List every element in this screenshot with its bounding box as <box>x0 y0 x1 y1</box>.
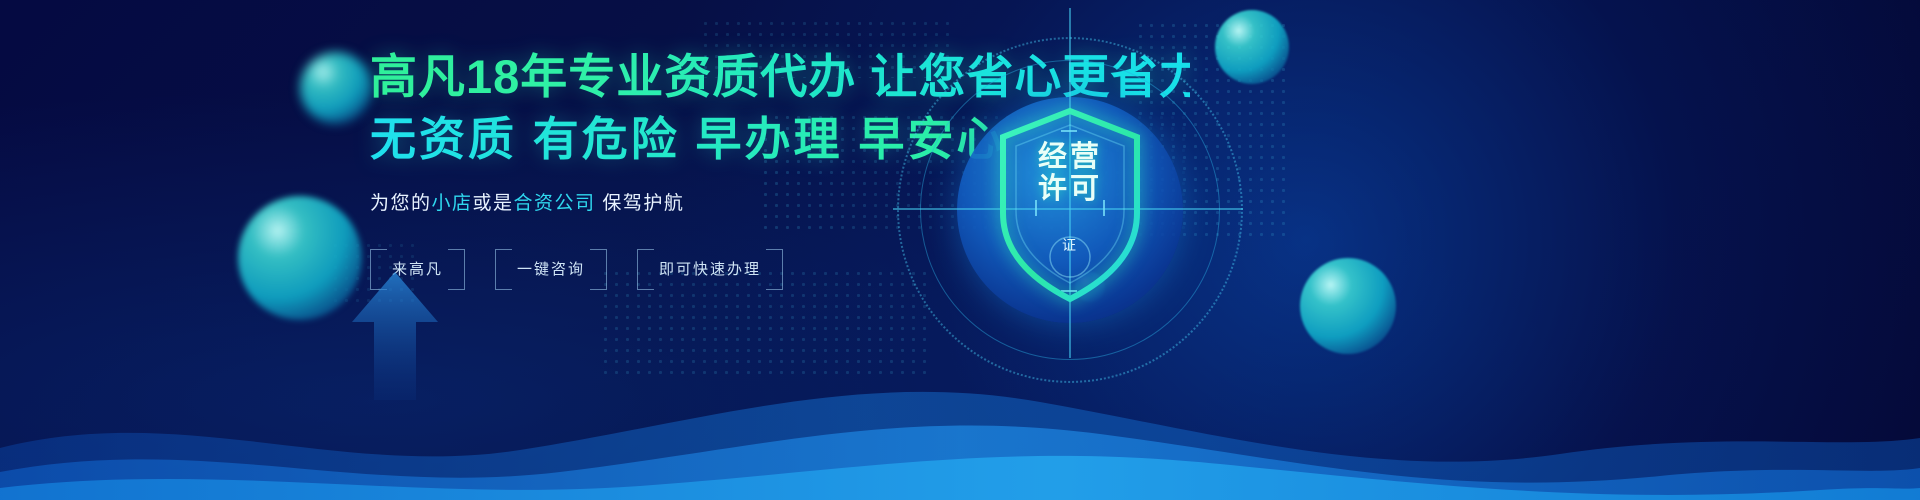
shield-label-sub: 证 <box>995 235 1145 255</box>
sphere-decoration <box>300 52 372 124</box>
promo-banner: 高凡18年专业资质代办 让您省心更省力 无资质 有危险 早办理 早安心 为您的小… <box>0 0 1920 500</box>
subheadline-highlight-company: 合资公司 <box>514 193 596 214</box>
shield-label: 经营 许可 <box>995 141 1145 206</box>
license-emblem: 经营 许可 证 <box>885 0 1255 380</box>
subheadline-middle: 或是 <box>473 193 514 214</box>
shield-label-line1: 经营 <box>995 141 1145 173</box>
tag-button-fast-processing[interactable]: 即可快速办理 <box>637 249 783 288</box>
shield-icon: 经营 许可 证 <box>995 105 1145 305</box>
subheadline-highlight-store: 小店 <box>432 193 473 214</box>
wave-decoration <box>0 330 1920 500</box>
shield-label-line2: 许可 <box>995 173 1145 205</box>
subheadline-suffix: 保驾护航 <box>596 193 685 214</box>
tag-button-one-click-consult[interactable]: 一键咨询 <box>495 249 607 288</box>
subheadline-prefix: 为您的 <box>370 193 432 214</box>
